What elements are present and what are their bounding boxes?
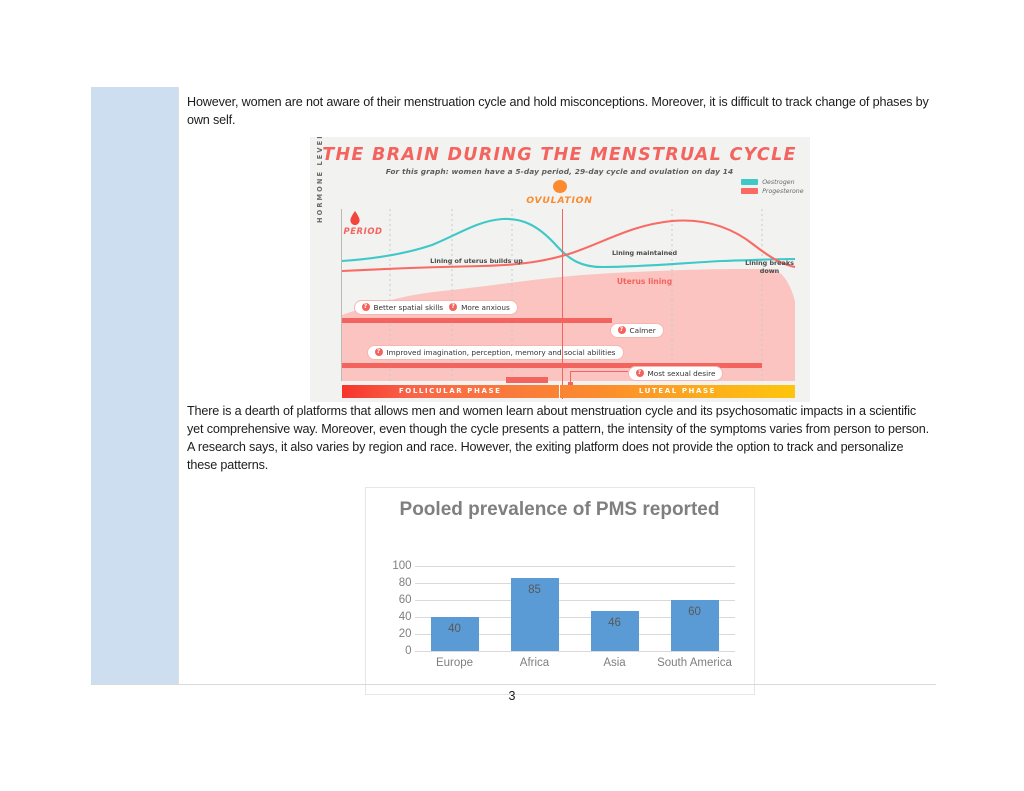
blood-drop-icon [350,211,360,225]
question-mark-icon: ? [449,303,457,311]
annotation-pill-group: ? Better spatial skills ? More anxious [354,300,518,315]
chart-title: Pooled prevalence of PMS reported [386,498,734,521]
y-axis-ticks: 020406080100 [370,560,412,657]
x-label-africa: Africa [495,656,575,670]
y-tick-60: 60 [399,594,412,606]
day-axis: Day 123456789101112131415161718192021222… [316,400,806,402]
lining-maintained-text: Lining maintained [600,249,690,257]
y-tick-80: 80 [399,577,412,589]
legend-label-progesterone: Progesterone [762,188,803,195]
bar-value-label: 46 [608,617,621,629]
ovulation-dot-icon [553,180,567,193]
bar-africa: 85 [511,578,559,650]
gridline [415,651,735,652]
sidebar-band [91,87,178,685]
bar-south-america: 60 [671,600,719,651]
y-tick-0: 0 [405,645,411,657]
legend-swatch-icon [741,179,758,185]
y-tick-40: 40 [399,611,412,623]
annotation-label-more-anxious: More anxious [461,303,510,312]
infographic-title: THE BRAIN DURING THE MENSTRUAL CYCLE [310,145,810,165]
ovulation-label: OVULATION [510,195,610,206]
bar-value-label: 40 [448,623,461,635]
document-body: However, women are not aware of their me… [91,87,936,685]
paragraph-problem: There is a dearth of platforms that allo… [187,402,932,475]
annotation-connector-horizontal [570,371,628,373]
bar-europe: 40 [431,617,479,651]
document-page: However, women are not aware of their me… [0,0,1024,791]
bar-value-label: 60 [688,606,701,618]
legend-label-oestrogen: Oestrogen [762,179,794,186]
annotation-label-better-spatial-skills: Better spatial skills [374,303,444,312]
bar-slot: 40 [415,566,495,651]
legend-swatch-icon [741,188,758,194]
question-mark-icon: ? [375,348,383,356]
footer-divider [91,684,936,685]
annotation-label-calmer: Calmer [630,326,656,335]
annotation-bar-3 [506,377,548,383]
infographic-subtitle: For this graph: women have a 5-day perio… [310,167,810,176]
question-mark-icon: ? [618,326,626,334]
follicular-phase-label: FOLLICULAR PHASE [342,387,559,395]
phase-bar: FOLLICULAR PHASE LUTEAL PHASE [342,385,795,398]
bar-value-label: 85 [528,584,541,596]
content-column: However, women are not aware of their me… [178,87,936,685]
bar-slot: 60 [655,566,735,651]
lining-builds-up-text: Lining of uterus builds up [422,257,532,265]
y-axis-label: HORMONE LEVELS [316,137,324,223]
luteal-phase-label: LUTEAL PHASE [560,387,794,395]
x-axis-labels: EuropeAfricaAsiaSouth America [415,656,735,670]
bar-slot: 46 [575,566,655,651]
bar-asia: 46 [591,611,639,650]
pms-prevalence-chart: Pooled prevalence of PMS reported 020406… [365,487,755,695]
lining-breaks-down-text: Lining breaks down [742,259,798,275]
x-label-europe: Europe [415,656,495,670]
question-mark-icon: ? [362,303,370,311]
y-tick-100: 100 [392,560,411,572]
bar-slot: 85 [495,566,575,651]
annotation-pill-improved: ? Improved imagination, perception, memo… [367,345,624,360]
period-label: PERIOD [344,226,383,236]
annotation-bar-1 [342,318,612,323]
chart-bars: 40854660 [415,566,735,651]
x-label-south-america: South America [655,656,735,670]
y-tick-20: 20 [399,628,412,640]
uterus-lining-text: Uterus lining [600,277,690,286]
hormone-legend: Oestrogen Progesterone [741,179,803,197]
annotation-label-improved-imagination: Improved imagination, perception, memory… [387,348,616,357]
menstrual-cycle-infographic: THE BRAIN DURING THE MENSTRUAL CYCLE For… [310,137,810,402]
annotation-pill-calmer: ? Calmer [610,323,664,338]
x-label-asia: Asia [575,656,655,670]
question-mark-icon: ? [636,369,644,377]
page-number: 3 [0,689,1024,703]
annotation-label-most-sexual-desire: Most sexual desire [648,369,716,378]
annotation-pill-sexual-desire: ? Most sexual desire [628,366,724,381]
paragraph-intro: However, women are not aware of their me… [187,93,932,130]
ovulation-day-line [562,209,563,399]
legend-item-progesterone: Progesterone [741,188,803,195]
legend-item-oestrogen: Oestrogen [741,179,803,186]
